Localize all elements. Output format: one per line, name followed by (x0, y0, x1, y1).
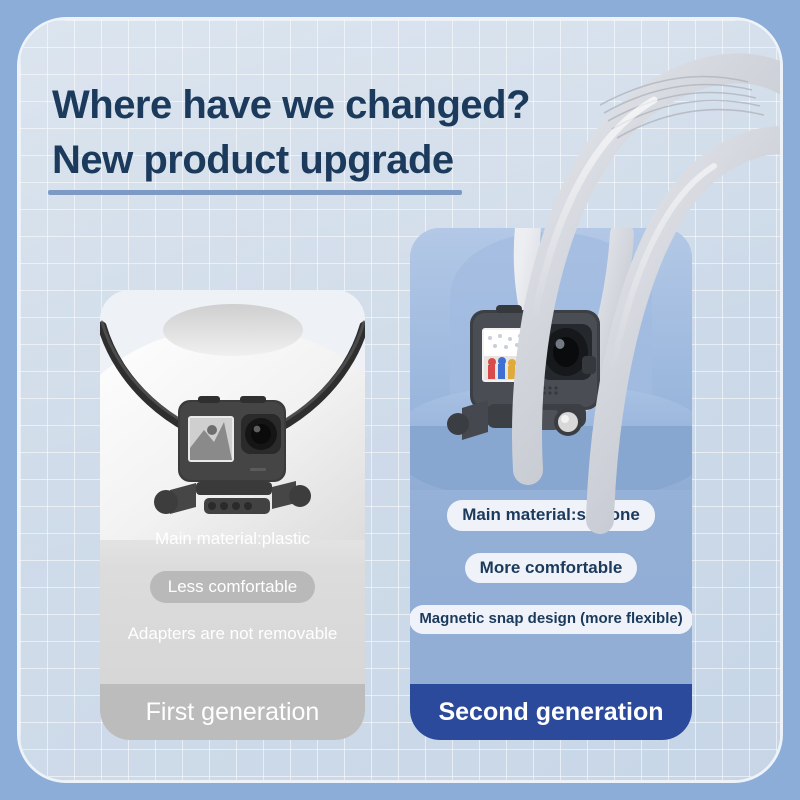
first-generation-label-bar: First generation (100, 684, 365, 740)
first-generation-features: Main material:plastic Less comfortable A… (100, 530, 365, 644)
headline-block: Where have we changed? New product upgra… (52, 78, 612, 188)
second-generation-label: Second generation (438, 698, 663, 727)
first-generation-photo (100, 290, 365, 540)
first-generation-label: First generation (146, 698, 320, 727)
feature-comfort-left: Less comfortable (150, 571, 315, 604)
feature-material-right: Main material:silicone (447, 500, 655, 531)
feature-material-left: Main material:plastic (155, 530, 310, 549)
panel-second-generation: Main material:silicone More comfortable … (410, 228, 692, 740)
second-generation-photo-illustration (410, 228, 692, 490)
feature-adapters-left: Adapters are not removable (128, 625, 338, 644)
headline-line-2: New product upgrade (52, 133, 454, 188)
second-generation-photo (410, 228, 692, 490)
second-generation-label-bar: Second generation (410, 684, 692, 740)
first-generation-photo-illustration (100, 290, 365, 540)
panel-first-generation: Main material:plastic Less comfortable A… (100, 290, 365, 740)
second-generation-features: Main material:silicone More comfortable … (410, 500, 692, 634)
feature-magnetic-right: Magnetic snap design (more flexible) (410, 605, 692, 634)
feature-comfort-right: More comfortable (465, 553, 638, 584)
infographic-root: Where have we changed? New product upgra… (0, 0, 800, 800)
headline-line-1: Where have we changed? (52, 78, 612, 133)
headline-line-2-wrapper: New product upgrade (52, 133, 612, 188)
